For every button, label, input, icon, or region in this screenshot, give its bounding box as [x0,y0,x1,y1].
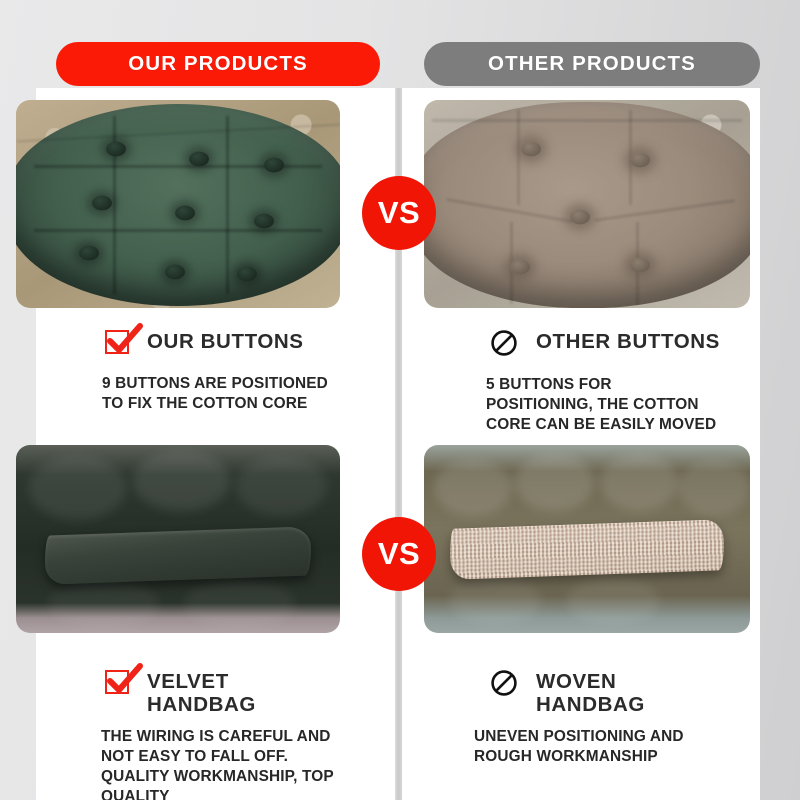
caption-body: 9 BUTTONS ARE POSITIONED TO FIX THE COTT… [102,374,395,414]
woven-strap [449,519,724,579]
prohibited-icon [490,329,518,357]
caption-title: OTHER BUTTONS [536,328,720,353]
taupe-cushion [424,102,750,308]
caption-our-buttons: OUR BUTTONS 9 BUTTONS ARE POSITIONED TO … [36,328,395,414]
vs-badge-row-2: VS [362,517,436,591]
photo-other-buttons [424,100,750,308]
photo-velvet-handbag [16,445,340,633]
check-icon [105,328,135,356]
photo-our-buttons [16,100,340,308]
check-icon [105,668,135,696]
header-badge-other-products: OTHER PRODUCTS [424,42,760,86]
caption-body: THE WIRING IS CAREFUL AND NOT EASY TO FA… [101,727,395,800]
caption-title: VELVET HANDBAG [147,668,256,717]
velvet-strap [44,527,311,585]
caption-body: 5 BUTTONS FOR POSITIONING, THE COTTON CO… [486,375,760,435]
caption-title: OUR BUTTONS [147,328,304,353]
caption-woven-handbag: WOVEN HANDBAG UNEVEN POSITIONING AND ROU… [402,668,760,767]
photo-woven-handbag [424,445,750,633]
caption-title: WOVEN HANDBAG [536,668,645,717]
header-badge-our-products: OUR PRODUCTS [56,42,380,86]
caption-velvet-handbag: VELVET HANDBAG THE WIRING IS CAREFUL AND… [36,668,395,800]
vs-badge-row-1: VS [362,176,436,250]
green-cushion [16,104,340,306]
prohibited-icon [490,669,518,697]
caption-body: UNEVEN POSITIONING AND ROUGH WORKMANSHIP [474,727,760,767]
caption-other-buttons: OTHER BUTTONS 5 BUTTONS FOR POSITIONING,… [402,328,760,435]
